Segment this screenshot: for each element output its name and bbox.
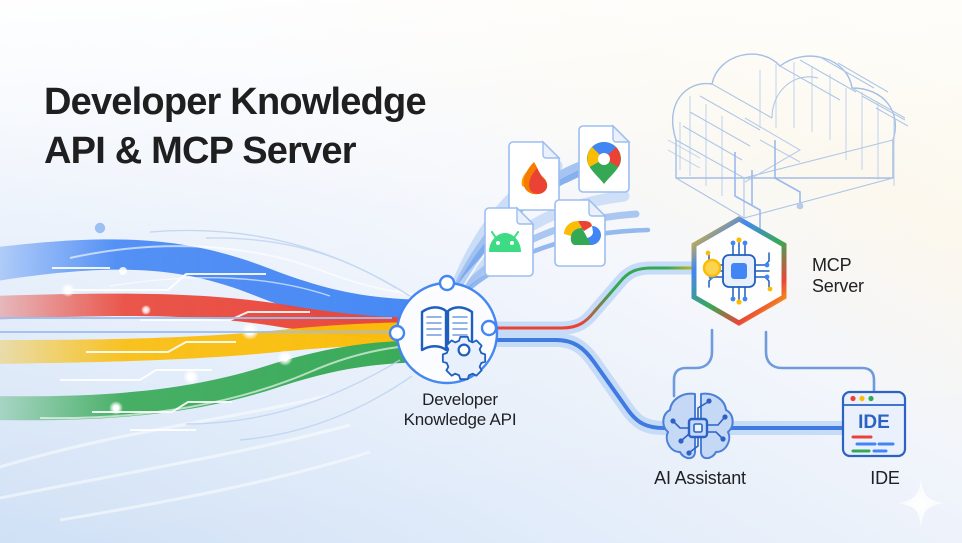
doc-card-android[interactable] [485,208,533,276]
label-ide: IDE [820,468,950,489]
label-developer-knowledge-api: Developer Knowledge API [355,390,565,430]
ide-screen-text: IDE [858,412,890,433]
api-connector-left [390,326,404,340]
node-ide[interactable]: IDE [843,392,905,456]
node-mcp-server[interactable] [694,219,784,323]
illustration-canvas: IDE Developer Knowledge API & MCP Server… [0,0,962,543]
page-title: Developer Knowledge API & MCP Server [44,78,564,175]
label-mcp-server: MCP Server [812,255,942,297]
label-ai-assistant: AI Assistant [615,468,785,489]
mcp-connector-left [704,260,720,276]
api-connector-right [482,321,496,335]
doc-card-google-cloud[interactable] [555,200,605,266]
android-robot-icon [489,232,521,252]
window-dot-yellow [859,396,864,401]
api-connector-top [440,276,454,290]
doc-card-google-maps[interactable] [579,126,629,192]
window-dot-red [850,396,855,401]
window-dot-green [868,396,873,401]
